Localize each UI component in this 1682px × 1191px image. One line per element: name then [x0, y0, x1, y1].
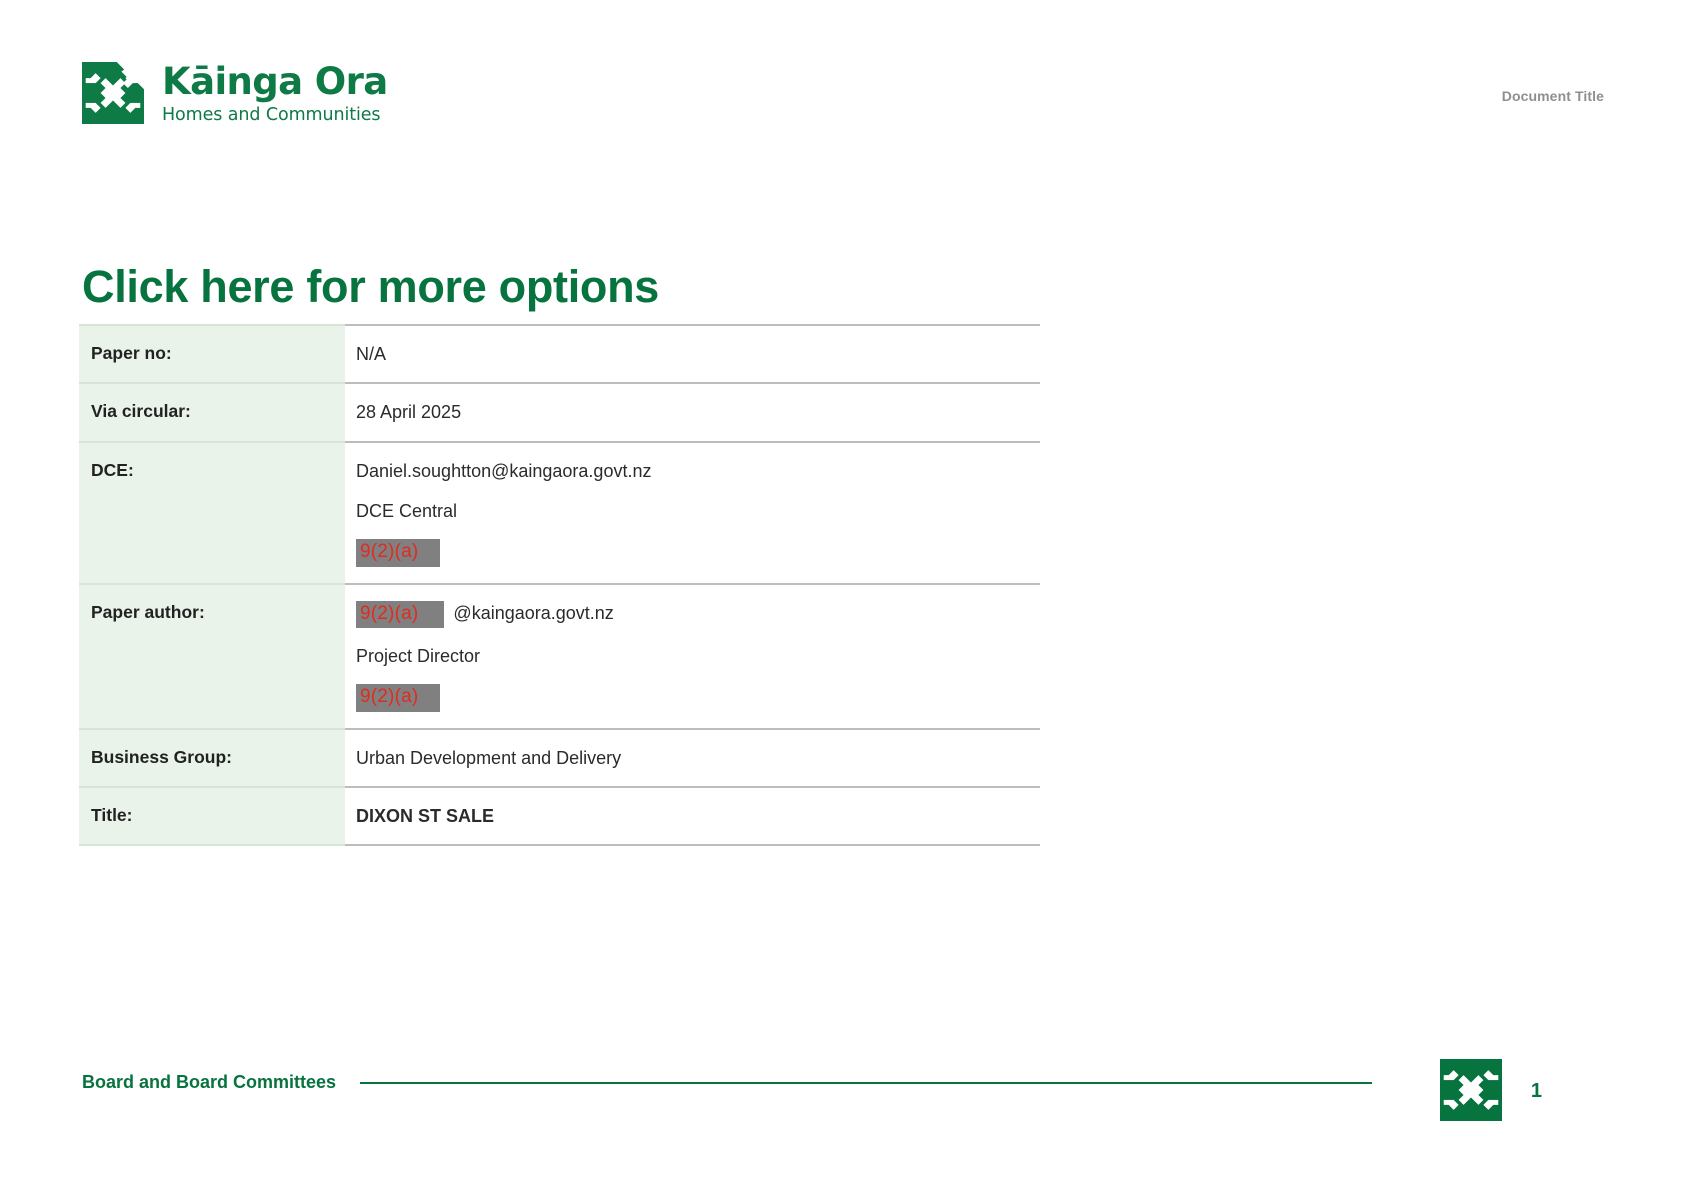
table-row-value-cell: Daniel.soughtton@kaingaora.govt.nzDCE Ce…	[345, 442, 1040, 584]
table-row-value-cell: Urban Development and Delivery	[345, 729, 1040, 787]
table-row: DCE:Daniel.soughtton@kaingaora.govt.nzDC…	[79, 442, 1040, 584]
table-row-label: Title:	[79, 788, 345, 844]
value-text: N/A	[356, 342, 1030, 366]
page-header: Kāinga Ora Homes and Communities Documen…	[0, 56, 1682, 146]
table-body: Paper no:N/AVia circular:28 April 2025DC…	[79, 325, 1040, 845]
table-row: Paper author:9(2)(a)@kaingaora.govt.nzPr…	[79, 584, 1040, 729]
page-footer: Board and Board Committees 1	[0, 1061, 1682, 1191]
table-row-label-cell: Paper author:	[79, 584, 345, 729]
table-row-value: Urban Development and Delivery	[345, 730, 1040, 786]
kainga-ora-logo: Kāinga Ora Homes and Communities	[82, 62, 388, 126]
logo-wordmark: Kāinga Ora	[162, 63, 388, 101]
redaction-badge: 9(2)(a)	[356, 539, 440, 566]
table-row-label-cell: Title:	[79, 787, 345, 845]
table-row: Business Group:Urban Development and Del…	[79, 729, 1040, 787]
table-row-value: N/A	[345, 326, 1040, 382]
redaction-email-line: 9(2)(a)@kaingaora.govt.nz	[356, 601, 1030, 628]
table-row-label: Via circular:	[79, 384, 345, 440]
page-title: Click here for more options	[82, 262, 659, 312]
value-text: Urban Development and Delivery	[356, 746, 1030, 770]
table-row-label: DCE:	[79, 443, 345, 499]
table-row-label-cell: Paper no:	[79, 325, 345, 383]
footer-divider	[360, 1082, 1372, 1085]
email-domain: @kaingaora.govt.nz	[453, 603, 613, 623]
document-page: Kāinga Ora Homes and Communities Documen…	[0, 0, 1682, 1191]
table-row: Title:DIXON ST SALE	[79, 787, 1040, 845]
kainga-ora-cross-icon	[82, 62, 144, 124]
table-row-label: Paper no:	[79, 326, 345, 382]
redaction-badge: 9(2)(a)	[356, 601, 444, 628]
table-row-value-cell: N/A	[345, 325, 1040, 383]
table-row-value-cell: 28 April 2025	[345, 383, 1040, 441]
header-document-title: Document Title	[1502, 88, 1604, 104]
footer-label: Board and Board Committees	[82, 1073, 336, 1091]
redaction-badge: 9(2)(a)	[356, 684, 440, 711]
table-row: Via circular:28 April 2025	[79, 383, 1040, 441]
table-row-value: DIXON ST SALE	[345, 788, 1040, 844]
value-text: 28 April 2025	[356, 400, 1030, 424]
table-row-label: Business Group:	[79, 730, 345, 786]
table-row-label-cell: DCE:	[79, 442, 345, 584]
redaction-line: 9(2)(a)	[356, 684, 1030, 711]
page-number: 1	[1531, 1081, 1542, 1101]
table-row-label-cell: Via circular:	[79, 383, 345, 441]
redaction-line: 9(2)(a)	[356, 539, 1030, 566]
table-row-value-cell: 9(2)(a)@kaingaora.govt.nzProject Directo…	[345, 584, 1040, 729]
table-row-label-cell: Business Group:	[79, 729, 345, 787]
value-text: DCE Central	[356, 499, 1030, 523]
table-row: Paper no:N/A	[79, 325, 1040, 383]
table-row-value: Daniel.soughtton@kaingaora.govt.nzDCE Ce…	[345, 443, 1040, 583]
paper-metadata-table: Paper no:N/AVia circular:28 April 2025DC…	[79, 324, 1040, 846]
table-row-label: Paper author:	[79, 585, 345, 641]
table-row-value: 28 April 2025	[345, 384, 1040, 440]
logo-tagline: Homes and Communities	[162, 105, 388, 126]
kainga-ora-cross-icon	[1440, 1059, 1502, 1121]
table-row-value: 9(2)(a)@kaingaora.govt.nzProject Directo…	[345, 585, 1040, 728]
value-text: Daniel.soughtton@kaingaora.govt.nz	[356, 459, 1030, 483]
value-text: Project Director	[356, 644, 1030, 668]
table-row-value-cell: DIXON ST SALE	[345, 787, 1040, 845]
logo-text: Kāinga Ora Homes and Communities	[162, 62, 388, 126]
value-text: DIXON ST SALE	[356, 804, 1030, 828]
